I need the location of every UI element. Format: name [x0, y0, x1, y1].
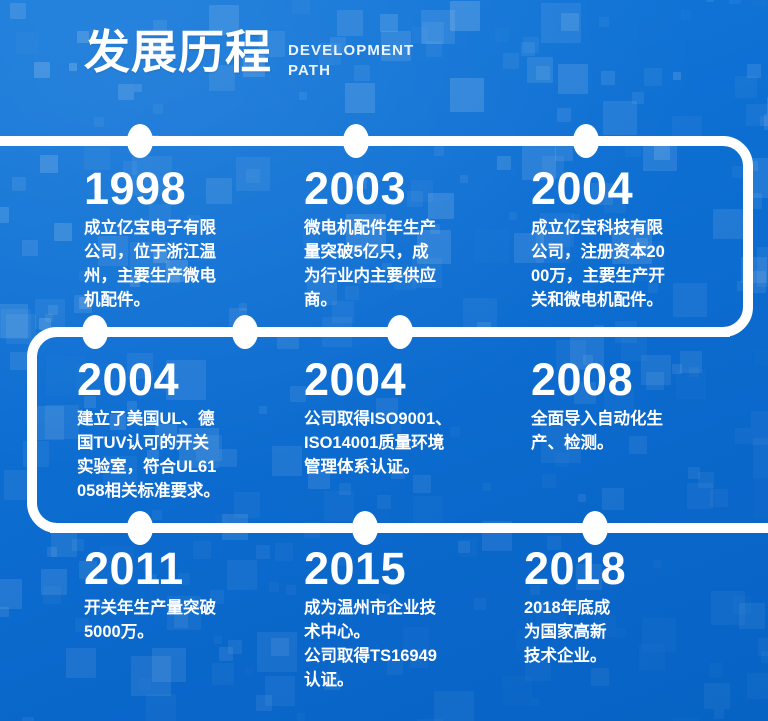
timeline-dot[interactable] — [352, 511, 378, 545]
timeline-entry: 2003微电机配件年生产 量突破5亿只，成 为行业内主要供应 商。 — [304, 166, 504, 313]
timeline-entry: 2004成立亿宝科技有限 公司，注册资本20 00万，主要生产开 关和微电机配件… — [531, 166, 731, 313]
timeline-entry: 2011开关年生产量突破 5000万。 — [84, 546, 284, 645]
entry-description: 开关年生产量突破 5000万。 — [84, 597, 284, 645]
entry-description: 成立亿宝电子有限 公司，位于浙江温 州，主要生产微电 机配件。 — [84, 217, 284, 313]
timeline-entry: 20182018年底成 为国家高新 技术企业。 — [524, 546, 674, 669]
timeline-dot[interactable] — [573, 124, 599, 158]
entry-description: 成立亿宝科技有限 公司，注册资本20 00万，主要生产开 关和微电机配件。 — [531, 217, 731, 313]
entry-description: 微电机配件年生产 量突破5亿只，成 为行业内主要供应 商。 — [304, 217, 504, 313]
entry-year: 2008 — [531, 357, 731, 402]
timeline-entry: 1998成立亿宝电子有限 公司，位于浙江温 州，主要生产微电 机配件。 — [84, 166, 284, 313]
entry-year: 2004 — [304, 357, 504, 402]
timeline-dot[interactable] — [343, 124, 369, 158]
entry-year: 2004 — [77, 357, 277, 402]
entry-year: 2018 — [524, 546, 674, 591]
entry-description: 建立了美国UL、德 国TUV认可的开关 实验室，符合UL61 058相关标准要求… — [77, 408, 277, 504]
entry-description: 公司取得ISO9001、 ISO14001质量环境 管理体系认证。 — [304, 408, 504, 480]
timeline-dot[interactable] — [387, 315, 413, 349]
timeline-dot[interactable] — [127, 124, 153, 158]
entry-year: 1998 — [84, 166, 284, 211]
entry-description: 2018年底成 为国家高新 技术企业。 — [524, 597, 674, 669]
timeline-dot[interactable] — [232, 315, 258, 349]
timeline-entry: 2004公司取得ISO9001、 ISO14001质量环境 管理体系认证。 — [304, 357, 504, 480]
entry-year: 2015 — [304, 546, 504, 591]
timeline-dot[interactable] — [127, 511, 153, 545]
timeline-entry: 2015成为温州市企业技 术中心。 公司取得TS16949 认证。 — [304, 546, 504, 693]
timeline-entry: 2008全面导入自动化生 产、检测。 — [531, 357, 731, 456]
entry-year: 2004 — [531, 166, 731, 211]
timeline-entry: 2004建立了美国UL、德 国TUV认可的开关 实验室，符合UL61 058相关… — [77, 357, 277, 504]
entry-description: 成为温州市企业技 术中心。 公司取得TS16949 认证。 — [304, 597, 504, 693]
entry-year: 2011 — [84, 546, 284, 591]
timeline-dot[interactable] — [82, 315, 108, 349]
entry-year: 2003 — [304, 166, 504, 211]
entry-description: 全面导入自动化生 产、检测。 — [531, 408, 731, 456]
timeline-dot[interactable] — [582, 511, 608, 545]
